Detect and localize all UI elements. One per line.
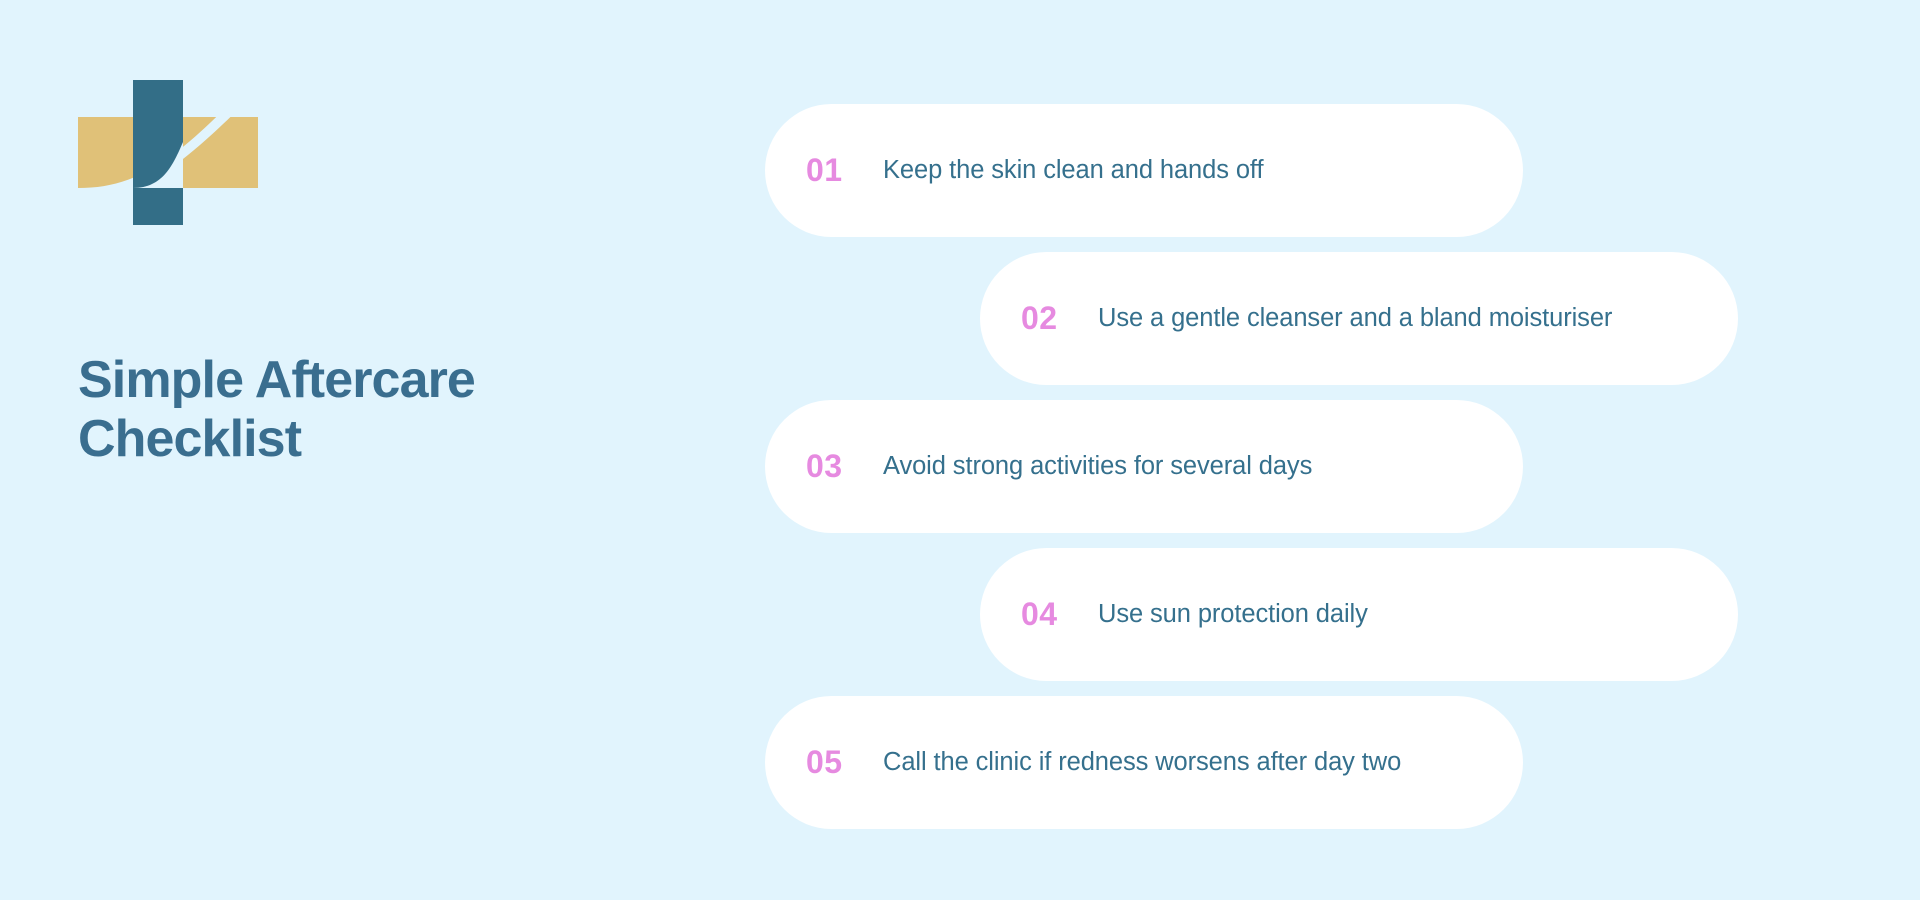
checklist-text: Keep the skin clean and hands off bbox=[883, 156, 1263, 185]
checklist: 01 Keep the skin clean and hands off 02 … bbox=[0, 104, 1920, 844]
list-item: 02 Use a gentle cleanser and a bland moi… bbox=[0, 252, 1920, 385]
list-item: 03 Avoid strong activities for several d… bbox=[0, 400, 1920, 533]
checklist-number: 04 bbox=[1021, 596, 1067, 633]
list-item: 05 Call the clinic if redness worsens af… bbox=[0, 696, 1920, 829]
checklist-card-4[interactable]: 04 Use sun protection daily bbox=[980, 548, 1738, 681]
checklist-number: 01 bbox=[806, 152, 852, 189]
checklist-card-3[interactable]: 03 Avoid strong activities for several d… bbox=[765, 400, 1523, 533]
checklist-text: Call the clinic if redness worsens after… bbox=[883, 748, 1401, 777]
checklist-text: Use sun protection daily bbox=[1098, 600, 1368, 629]
checklist-number: 05 bbox=[806, 744, 852, 781]
checklist-card-1[interactable]: 01 Keep the skin clean and hands off bbox=[765, 104, 1523, 237]
checklist-number: 03 bbox=[806, 448, 852, 485]
checklist-card-5[interactable]: 05 Call the clinic if redness worsens af… bbox=[765, 696, 1523, 829]
list-item: 01 Keep the skin clean and hands off bbox=[0, 104, 1920, 237]
checklist-card-2[interactable]: 02 Use a gentle cleanser and a bland moi… bbox=[980, 252, 1738, 385]
list-item: 04 Use sun protection daily bbox=[0, 548, 1920, 681]
checklist-number: 02 bbox=[1021, 300, 1067, 337]
slide-canvas: Simple Aftercare Checklist 01 Keep the s… bbox=[0, 0, 1920, 900]
checklist-text: Avoid strong activities for several days bbox=[883, 452, 1312, 481]
checklist-text: Use a gentle cleanser and a bland moistu… bbox=[1098, 304, 1612, 333]
